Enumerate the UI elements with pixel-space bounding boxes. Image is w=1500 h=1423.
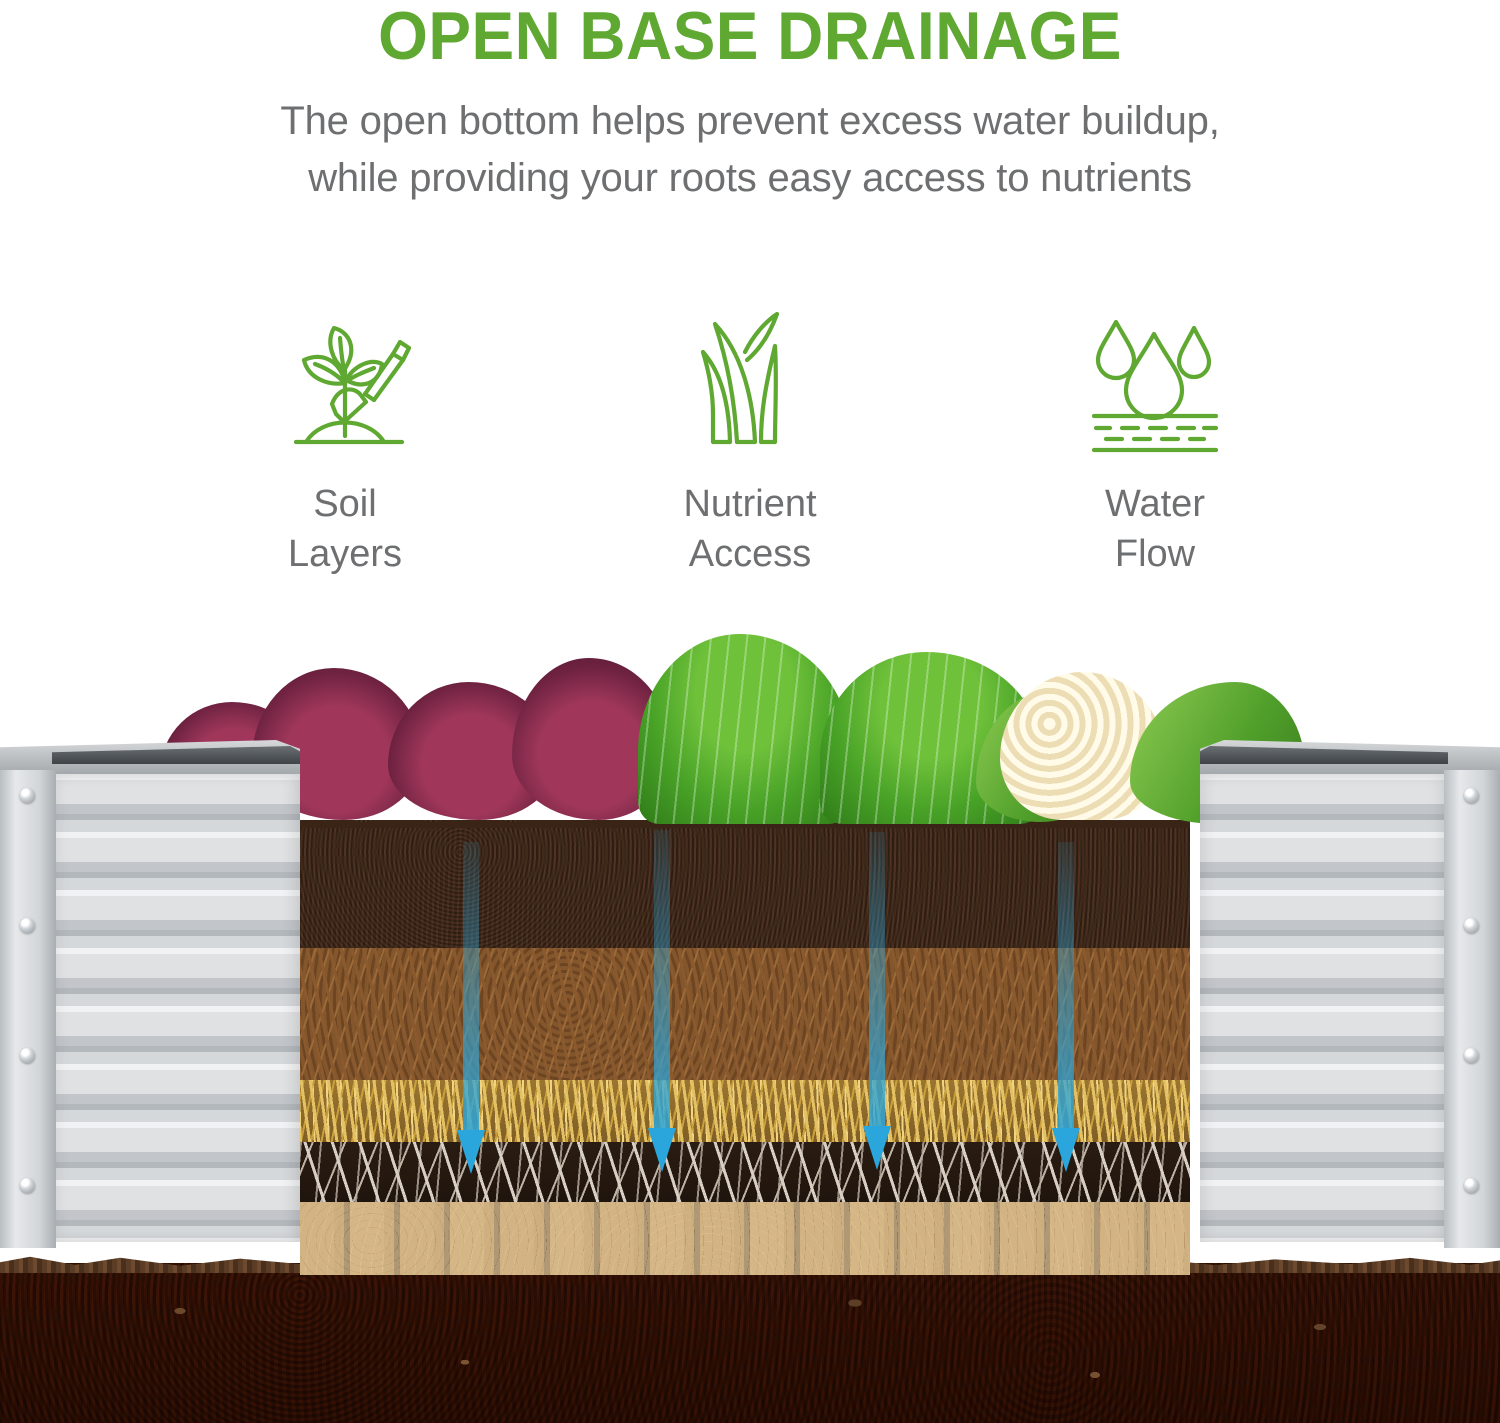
page-subtitle: The open bottom helps prevent excess wat… bbox=[0, 93, 1500, 207]
rivet-icon bbox=[1464, 1048, 1479, 1063]
soil-layer-bark-mulch bbox=[300, 948, 1190, 1080]
rivet-icon bbox=[1464, 788, 1479, 803]
rivet-icon bbox=[20, 788, 35, 803]
rivet-icon bbox=[20, 1178, 35, 1193]
garden-bed-panel-right bbox=[1200, 740, 1500, 1270]
feature-label-line-1: Nutrient bbox=[683, 479, 816, 529]
water-droplets-icon bbox=[1080, 300, 1230, 465]
feature-label-line-2: Flow bbox=[1105, 529, 1205, 579]
corner-post bbox=[0, 770, 56, 1248]
corrugated-steel-wall bbox=[1200, 774, 1448, 1242]
feature-label-line-2: Layers bbox=[288, 529, 402, 579]
green-cabbage bbox=[638, 634, 850, 824]
feature-row: Soil Layers Nutrient Access bbox=[0, 300, 1500, 579]
feature-soil-layers: Soil Layers bbox=[218, 300, 473, 579]
rivet-icon bbox=[1464, 918, 1479, 933]
feature-label: Soil Layers bbox=[288, 479, 402, 579]
grass-blades-icon bbox=[675, 300, 825, 465]
feature-label: Nutrient Access bbox=[683, 479, 816, 579]
rivet-icon bbox=[20, 1048, 35, 1063]
garden-bed-panel-left bbox=[0, 740, 300, 1270]
feature-label-line-1: Water bbox=[1105, 479, 1205, 529]
soil-layer-topsoil bbox=[300, 820, 1190, 948]
ground-soil bbox=[0, 1263, 1500, 1423]
soil-cross-section bbox=[300, 820, 1190, 1275]
rivet-icon bbox=[1464, 1178, 1479, 1193]
rivet-icon bbox=[20, 918, 35, 933]
product-image bbox=[0, 628, 1500, 1423]
feature-label-line-1: Soil bbox=[288, 479, 402, 529]
subtitle-line-1: The open bottom helps prevent excess wat… bbox=[0, 93, 1500, 150]
page-title: OPEN BASE DRAINAGE bbox=[45, 2, 1455, 71]
feature-label-line-2: Access bbox=[683, 529, 816, 579]
plant-shovel-icon bbox=[270, 300, 420, 465]
feature-label: Water Flow bbox=[1105, 479, 1205, 579]
feature-nutrient-access: Nutrient Access bbox=[623, 300, 878, 579]
soil-layer-wood-logs bbox=[300, 1202, 1190, 1275]
header: OPEN BASE DRAINAGE The open bottom helps… bbox=[0, 0, 1500, 207]
corner-post bbox=[1444, 770, 1500, 1248]
feature-water-flow: Water Flow bbox=[1028, 300, 1283, 579]
corrugated-steel-wall bbox=[52, 774, 300, 1242]
subtitle-line-2: while providing your roots easy access t… bbox=[0, 150, 1500, 207]
